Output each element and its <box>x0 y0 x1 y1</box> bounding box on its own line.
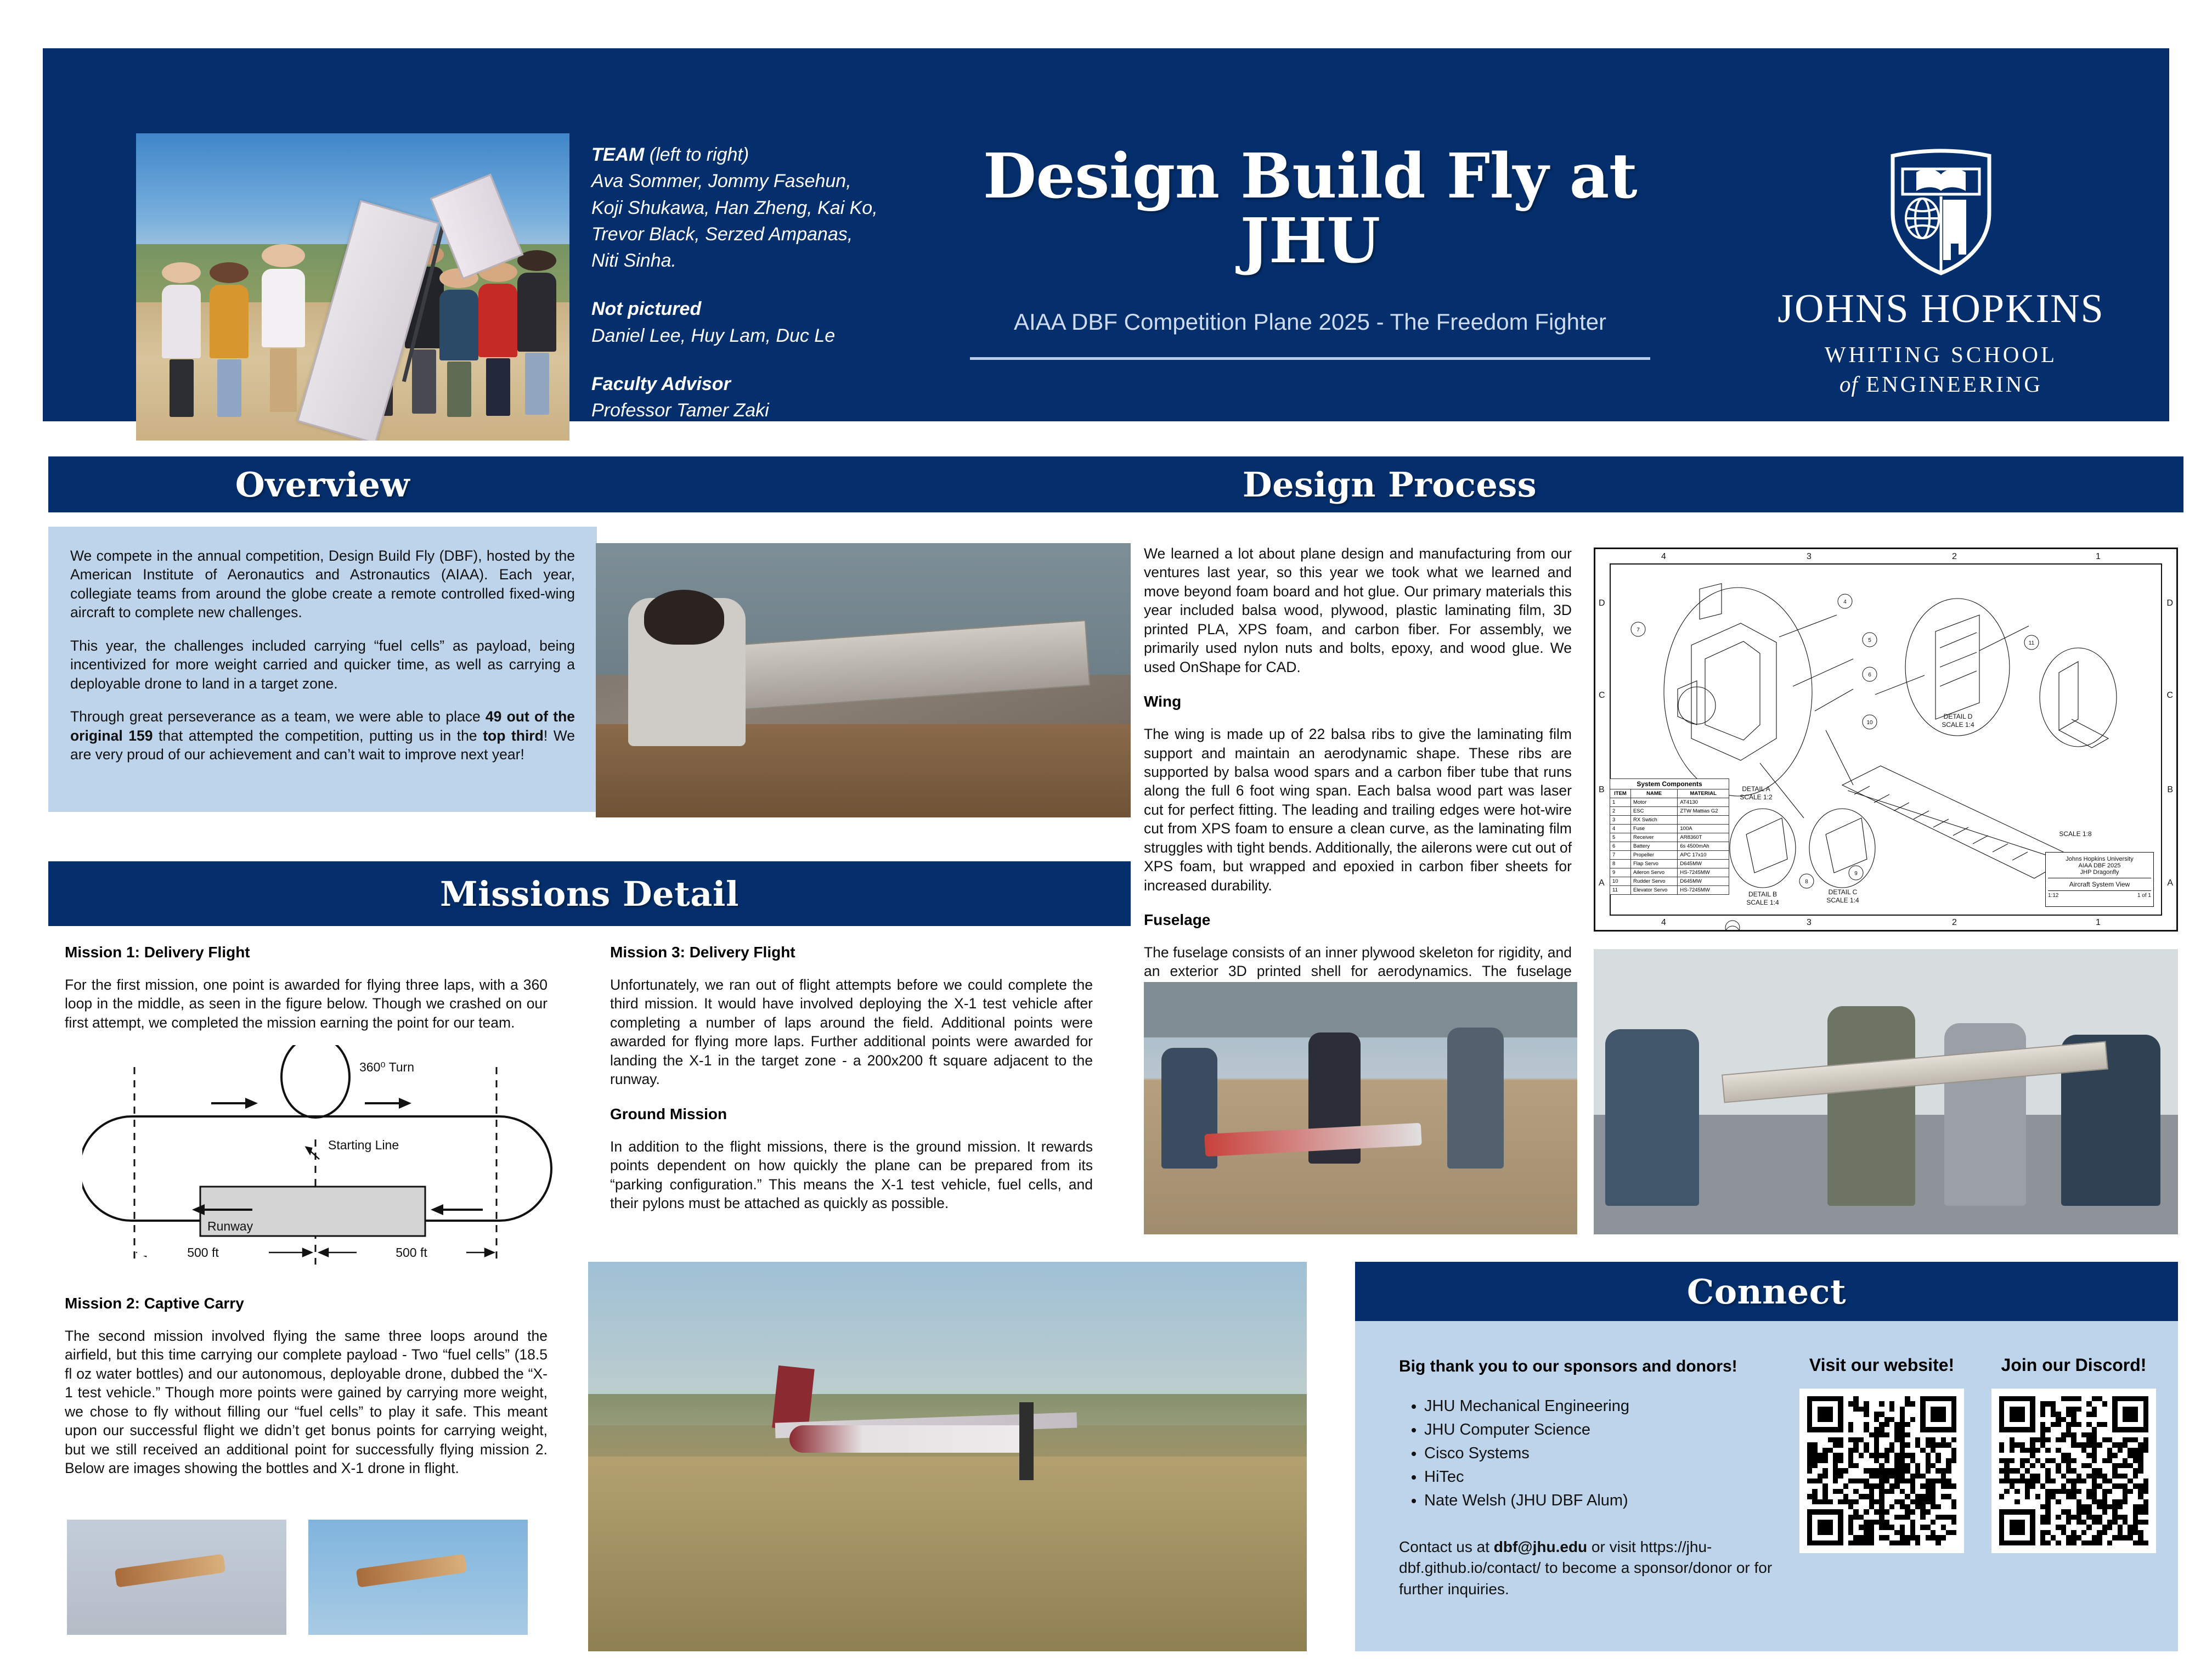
flight-aircraft-propeller <box>1019 1402 1034 1480</box>
svg-text:8: 8 <box>1805 879 1808 885</box>
connect-heading: Connect <box>1687 1272 1846 1312</box>
wing-subhead: Wing <box>1144 693 1572 710</box>
cad-org: Johns Hopkins University <box>2048 856 2151 862</box>
detail-c-label: DETAIL C <box>1819 888 1866 896</box>
jhu-university-name: JOHNS HOPKINS <box>1743 286 2138 332</box>
sponsor-item: Nate Welsh (JHU DBF Alum) <box>1424 1489 1783 1513</box>
mission-2-text: The second mission involved flying the s… <box>65 1327 548 1478</box>
detail-d-scale: SCALE 1:4 <box>1934 721 1982 729</box>
design-process-text-column: We learned a lot about plane design and … <box>1144 544 1572 1019</box>
mission-1-text: For the first mission, one point is awar… <box>65 975 548 1032</box>
cell-item: 11 <box>1610 886 1631 895</box>
diagram-runway-text: Runway <box>207 1219 253 1233</box>
overview-panel: We compete in the annual competition, De… <box>48 527 597 812</box>
cell-name: Receiver <box>1630 833 1677 842</box>
cell-material: 100A <box>1678 825 1729 833</box>
cell-name: Rudder Servo <box>1630 877 1677 886</box>
cell-material: D645MW <box>1678 860 1729 868</box>
cad-title-block: Johns Hopkins University AIAA DBF 2025 J… <box>2045 852 2154 907</box>
cell-material: AR8360T <box>1678 833 1729 842</box>
detail-b-note: DETAIL B SCALE 1:4 <box>1739 890 1786 907</box>
diagram-dim-right-text: 500 ft <box>396 1245 427 1260</box>
x1-drone-flight-photo <box>308 1520 528 1635</box>
overview-paragraph-2: This year, the challenges included carry… <box>70 636 575 693</box>
cell-item: 4 <box>1610 825 1631 833</box>
svg-text:4: 4 <box>1843 599 1847 605</box>
detail-c-scale: SCALE 1:4 <box>1819 896 1866 905</box>
mission-3-heading: Mission 3: Delivery Flight <box>610 944 1093 961</box>
col-material: MATERIAL <box>1678 789 1729 798</box>
section-header-connect: Connect <box>1355 1262 2178 1321</box>
detail-b-label: DETAIL B <box>1739 890 1786 899</box>
cell-item: 7 <box>1610 851 1631 860</box>
team-members: Ava Sommer, Jommy Fasehun, Koji Shukawa,… <box>591 168 882 274</box>
detail-d-note: DETAIL D SCALE 1:4 <box>1934 713 1982 729</box>
overview-p3-a: Through great perseverance as a team, we… <box>70 708 486 725</box>
lab-person <box>1605 1029 1699 1206</box>
cell-material: ZTW Mattias G2 <box>1678 807 1729 816</box>
svg-text:7: 7 <box>1637 627 1640 633</box>
sponsor-item: JHU Computer Science <box>1424 1418 1783 1442</box>
cell-name: Battery <box>1630 842 1677 851</box>
bottles-photo <box>67 1520 286 1635</box>
flight-path-diagram: 500 ft 500 ft 360⁰ Turn Starting Line Ru… <box>82 1045 554 1276</box>
table-row: 8Flap ServoD645MW <box>1610 860 1729 868</box>
detail-b-scale: SCALE 1:4 <box>1739 899 1786 907</box>
overview-paragraph-1: We compete in the annual competition, De… <box>70 546 575 622</box>
svg-text:9: 9 <box>1854 871 1858 877</box>
x1-drone-body <box>356 1554 467 1587</box>
svg-text:10: 10 <box>1866 720 1873 726</box>
cell-name: Aileron Servo <box>1630 868 1677 877</box>
cell-material: HS-7245MW <box>1678 886 1729 895</box>
cell-name: Flap Servo <box>1630 860 1677 868</box>
jhu-dept-of: of <box>1839 371 1858 397</box>
lab-person <box>1827 1006 1915 1206</box>
sponsor-item: JHU Mechanical Engineering <box>1424 1395 1783 1418</box>
poster-title: Design Build Fly at JHU <box>921 144 1700 273</box>
title-block: Design Build Fly at JHU AIAA DBF Competi… <box>921 144 1700 360</box>
table-row: 11Elevator ServoHS-7245MW <box>1610 886 1729 895</box>
svg-text:5: 5 <box>1868 637 1871 644</box>
lab-photo <box>1594 949 2178 1234</box>
header-banner: TEAM (left to right) Ava Sommer, Jommy F… <box>43 48 2169 421</box>
system-components-table: System Components ITEM NAME MATERIAL 1Mo… <box>1610 778 1729 895</box>
table-row: 1MotorAT4130 <box>1610 798 1729 807</box>
mission-2-heading: Mission 2: Captive Carry <box>65 1295 548 1312</box>
cell-material <box>1678 816 1729 825</box>
detail-a-label: DETAIL A <box>1733 785 1780 793</box>
sponsors-block: Big thank you to our sponsors and donors… <box>1399 1357 1783 1600</box>
team-roster: TEAM (left to right) Ava Sommer, Jommy F… <box>591 142 882 445</box>
detail-c-note: DETAIL C SCALE 1:4 <box>1819 888 1866 905</box>
bottles-payload <box>115 1554 226 1587</box>
team-member-figure <box>439 268 478 422</box>
title-divider <box>970 357 1650 360</box>
diagram-turn-text: 360⁰ Turn <box>359 1060 414 1074</box>
cell-name: Propeller <box>1630 851 1677 860</box>
faculty-advisor-label: Faculty Advisor <box>591 371 882 397</box>
cell-name: Elevator Servo <box>1630 886 1677 895</box>
workshop-person-hair <box>644 590 724 645</box>
team-member-figure <box>517 250 556 422</box>
table-row: 4Fuse100A <box>1610 825 1729 833</box>
team-label-suffix: (left to right) <box>644 144 749 165</box>
cell-material: D645MW <box>1678 877 1729 886</box>
jhu-logo: JOHNS HOPKINS WHITING SCHOOL of ENGINEER… <box>1743 147 2138 397</box>
ground-mission-heading: Ground Mission <box>610 1105 1093 1123</box>
section-header-overview: Overview <box>48 456 597 512</box>
mission-2-block: Mission 2: Captive Carry The second miss… <box>65 1295 548 1478</box>
sponsors-title: Big thank you to our sponsors and donors… <box>1399 1357 1783 1376</box>
section-header-missions: Missions Detail <box>48 861 1131 926</box>
competition-canopy <box>1144 982 1577 1037</box>
mission-3-block: Mission 3: Delivery Flight Unfortunately… <box>610 944 1093 1212</box>
ground-mission-text: In addition to the flight missions, ther… <box>610 1137 1093 1213</box>
cell-name: ESC <box>1630 807 1677 816</box>
team-label: TEAM <box>591 144 644 165</box>
design-process-intro: We learned a lot about plane design and … <box>1144 544 1572 676</box>
cell-name: Fuse <box>1630 825 1677 833</box>
not-pictured-label: Not pictured <box>591 296 882 322</box>
system-components-rows: 1MotorAT41302ESCZTW Mattias G23RX Swtich… <box>1610 798 1729 895</box>
mission-1-heading: Mission 1: Delivery Flight <box>65 944 548 961</box>
cell-item: 3 <box>1610 816 1631 825</box>
detail-a-note: DETAIL A SCALE 1:2 <box>1733 785 1780 802</box>
col-name: NAME <box>1630 789 1677 798</box>
svg-text:6: 6 <box>1868 672 1871 678</box>
section-header-design-process: Design Process <box>596 456 2183 512</box>
jhu-school-name: WHITING SCHOOL <box>1743 341 2138 368</box>
cell-item: 5 <box>1610 833 1631 842</box>
cell-material: AT4130 <box>1678 798 1729 807</box>
contact-email[interactable]: dbf@jhu.edu <box>1494 1538 1587 1555</box>
design-process-heading: Design Process <box>1243 465 1537 505</box>
qr-website-block[interactable]: Visit our website! <box>1788 1355 1975 1553</box>
cad-drawing-name: Aircraft System View <box>2048 878 2151 888</box>
cad-sheet: 1 of 1 <box>2137 893 2151 899</box>
poster-root: TEAM (left to right) Ava Sommer, Jommy F… <box>0 0 2212 1659</box>
team-member-figure <box>210 262 249 422</box>
cell-name: RX Swtich <box>1630 816 1677 825</box>
diagram-dim-left-text: 500 ft <box>187 1245 219 1260</box>
sponsors-list: JHU Mechanical EngineeringJHU Computer S… <box>1424 1395 1783 1513</box>
overview-text: We compete in the annual competition, De… <box>70 546 575 764</box>
flight-ground <box>588 1457 1307 1651</box>
flight-aircraft-tail <box>772 1365 814 1431</box>
fuselage-subhead: Fuselage <box>1144 911 1572 929</box>
contact-prefix: Contact us at <box>1399 1538 1494 1555</box>
sponsor-item: HiTec <box>1424 1465 1783 1489</box>
table-row: 9Aileron ServoHS-7245MW <box>1610 868 1729 877</box>
qr-website-matrix <box>1807 1396 1956 1545</box>
connect-panel: Big thank you to our sponsors and donors… <box>1355 1321 2178 1651</box>
qr-discord-matrix <box>1999 1396 2148 1545</box>
qr-website-code[interactable] <box>1799 1389 1964 1553</box>
sponsor-item: Cisco Systems <box>1424 1442 1783 1465</box>
table-row: 6Battery6s 4500mAh <box>1610 842 1729 851</box>
qr-discord-title: Join our Discord! <box>1980 1355 2167 1375</box>
table-row: 5ReceiverAR8360T <box>1610 833 1729 842</box>
cell-material: HS-7245MW <box>1678 868 1729 877</box>
team-member-figure <box>478 262 517 422</box>
flight-photo <box>588 1262 1307 1651</box>
cell-item: 10 <box>1610 877 1631 886</box>
wing-body-text: The wing is made up of 22 balsa ribs to … <box>1144 725 1572 895</box>
cad-scale-value: 1:12 <box>2048 893 2058 899</box>
diagram-starting-line-text: Starting Line <box>328 1138 399 1152</box>
workshop-photo <box>596 543 1131 817</box>
svg-text:11: 11 <box>2029 640 2035 646</box>
cell-item: 1 <box>1610 798 1631 807</box>
jhu-shield-icon <box>1886 147 1996 276</box>
cad-drawing: 4 3 2 1 4 3 2 1 D C B A D C B A <box>1594 548 2178 932</box>
qr-discord-code[interactable] <box>1991 1389 2156 1553</box>
main-scale-note: SCALE 1:8 <box>2051 830 2100 838</box>
detail-d-label: DETAIL D <box>1934 713 1982 721</box>
team-member-figure <box>162 262 201 422</box>
cell-material: 6s 4500mAh <box>1678 842 1729 851</box>
overview-paragraph-3: Through great perseverance as a team, we… <box>70 707 575 764</box>
team-member-figure <box>262 244 305 422</box>
qr-discord-block[interactable]: Join our Discord! <box>1980 1355 2167 1553</box>
col-item: ITEM <box>1610 789 1631 798</box>
table-row: 2ESCZTW Mattias G2 <box>1610 807 1729 816</box>
cell-material: APC 17x10 <box>1678 851 1729 860</box>
cell-item: 8 <box>1610 860 1631 868</box>
contact-text: Contact us at dbf@jhu.edu or visit https… <box>1399 1537 1783 1600</box>
table-row: 3RX Swtich <box>1610 816 1729 825</box>
overview-heading: Overview <box>235 465 410 505</box>
cad-project: JHP Dragonfly <box>2048 869 2151 876</box>
missions-heading: Missions Detail <box>440 874 739 914</box>
overview-p3-c: that attempted the competition, putting … <box>153 727 483 744</box>
qr-website-title: Visit our website! <box>1788 1355 1975 1375</box>
flight-aircraft-fuselage <box>789 1425 1034 1453</box>
jhu-dept-name: of ENGINEERING <box>1743 371 2138 397</box>
competition-photo <box>1144 982 1577 1234</box>
system-components-caption: System Components <box>1610 779 1729 789</box>
faculty-advisor-name: Professor Tamer Zaki <box>591 397 882 424</box>
not-pictured-names: Daniel Lee, Huy Lam, Duc Le <box>591 323 882 349</box>
detail-a-scale: SCALE 1:2 <box>1733 793 1780 802</box>
cad-competition: AIAA DBF 2025 <box>2048 862 2151 869</box>
competition-person <box>1447 1028 1504 1169</box>
team-photo <box>136 133 569 441</box>
overview-top-third: top third <box>483 727 544 744</box>
cell-name: Motor <box>1630 798 1677 807</box>
table-row: 10Rudder ServoD645MW <box>1610 877 1729 886</box>
table-row: 7PropellerAPC 17x10 <box>1610 851 1729 860</box>
mission-1-block: Mission 1: Delivery Flight For the first… <box>65 944 548 1032</box>
cell-item: 2 <box>1610 807 1631 816</box>
mission-3-text: Unfortunately, we ran out of flight atte… <box>610 975 1093 1089</box>
cell-item: 6 <box>1610 842 1631 851</box>
poster-subtitle: AIAA DBF Competition Plane 2025 - The Fr… <box>921 309 1700 335</box>
cell-item: 9 <box>1610 868 1631 877</box>
jhu-dept-label: ENGINEERING <box>1866 371 2042 397</box>
